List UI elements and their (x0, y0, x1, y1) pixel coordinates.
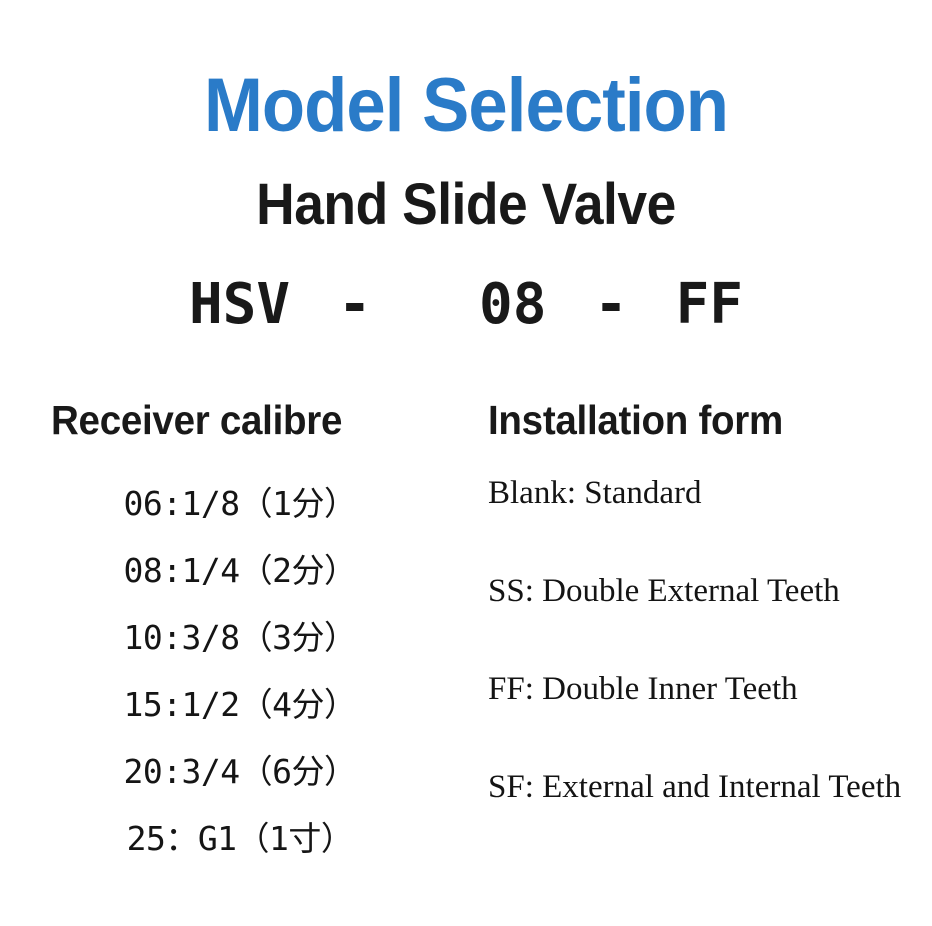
page-title: Model Selection (33, 64, 900, 148)
product-name-subtitle: Hand Slide Valve (37, 172, 894, 238)
model-selection-page: Model Selection Hand Slide Valve HSV - 0… (0, 0, 932, 926)
model-code-bore: 08 (479, 272, 546, 338)
list-item: 08:1/4（2分） (45, 537, 435, 604)
list-item: SS: Double External Teeth (488, 568, 918, 614)
receiver-calibre-list: 06:1/8（1分） 08:1/4（2分） 10:3/8（3分） 15:1/2（… (45, 470, 435, 872)
model-code-dash-2: - (580, 272, 642, 338)
model-code-prefix: HSV (189, 272, 290, 338)
list-item: FF: Double Inner Teeth (488, 666, 918, 712)
list-item: SF: External and Internal Teeth (488, 764, 918, 810)
model-code-dash-1: - (324, 272, 386, 338)
list-item: 20:3/4（6分） (45, 738, 435, 805)
list-item: 25：G1（1寸） (45, 805, 435, 872)
list-item: 10:3/8（3分） (45, 604, 435, 671)
column-heading-installation-form: Installation form (488, 396, 783, 444)
column-heading-receiver-calibre: Receiver calibre (51, 396, 342, 444)
list-item: 06:1/8（1分） (45, 470, 435, 537)
installation-form-list: Blank: Standard SS: Double External Teet… (488, 470, 918, 810)
model-code: HSV - 08 - FF (0, 272, 932, 338)
model-code-suffix: FF (676, 272, 743, 338)
list-item: Blank: Standard (488, 470, 918, 516)
list-item: 15:1/2（4分） (45, 671, 435, 738)
